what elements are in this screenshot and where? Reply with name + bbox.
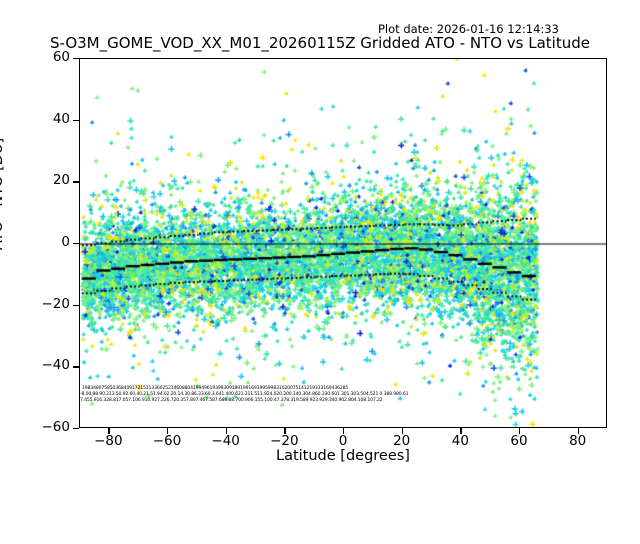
x-tick-mark <box>519 428 520 434</box>
stat-row-counts: 1983480758503684091721511336025214608804… <box>82 386 348 391</box>
y-tick-label: 40 <box>0 111 70 127</box>
x-tick-mark <box>226 428 227 434</box>
x-tick-mark <box>343 428 344 434</box>
x-tick-label: −40 <box>196 433 256 449</box>
y-tick-label: −60 <box>0 419 70 435</box>
x-tick-label: −60 <box>137 433 197 449</box>
y-tick-label: 20 <box>0 172 70 188</box>
x-tick-mark <box>402 428 403 434</box>
y-tick-label: 0 <box>0 234 70 250</box>
x-tick-label: −20 <box>254 433 314 449</box>
y-tick-label: 60 <box>0 49 70 65</box>
y-axis-label: ATO - NTO [DU] <box>0 0 6 544</box>
stat-row-stdev: 7.455.916.328.817.057.106.910.927.226.72… <box>80 398 383 403</box>
x-tick-mark <box>284 428 285 434</box>
x-tick-label: −80 <box>78 433 138 449</box>
x-tick-mark <box>108 428 109 434</box>
y-tick-label: −40 <box>0 357 70 373</box>
x-tick-mark <box>460 428 461 434</box>
x-tick-label: 20 <box>372 433 432 449</box>
scatter-canvas <box>80 59 607 428</box>
x-tick-label: 60 <box>489 433 549 449</box>
x-tick-label: 40 <box>430 433 490 449</box>
y-tick-mark <box>73 428 79 429</box>
plot-title: S-O3M_GOME_VOD_XX_M01_20260115Z Gridded … <box>0 34 640 52</box>
x-tick-label: 0 <box>313 433 373 449</box>
stat-row-means: -8.00.98.90.213.50.92.60.40.21.51.94.02.… <box>80 392 408 397</box>
y-tick-label: −20 <box>0 296 70 312</box>
x-tick-mark <box>167 428 168 434</box>
x-tick-mark <box>578 428 579 434</box>
x-axis-label: Latitude [degrees] <box>79 448 607 464</box>
plot-area <box>79 58 607 428</box>
x-tick-label: 80 <box>548 433 608 449</box>
plot-figure: Plot date: 2026-01-16 12:14:33 S-O3M_GOM… <box>0 0 640 480</box>
